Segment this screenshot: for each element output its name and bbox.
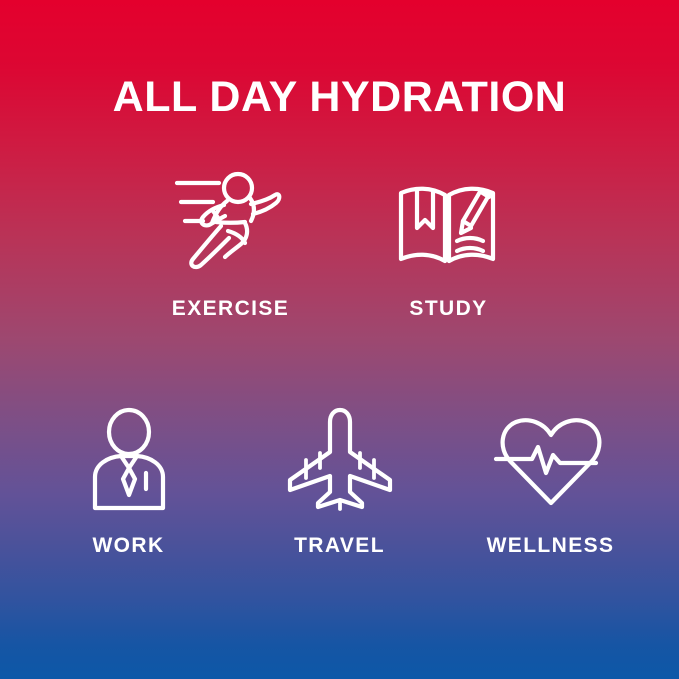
page-title-container: ALL DAY HYDRATION (0, 45, 679, 150)
benefit-label-study: STUDY (409, 297, 487, 321)
person-necktie-icon (70, 405, 188, 515)
benefit-item-work[interactable]: WORK (23, 405, 234, 558)
benefit-row-2: WORK TRAVEL (0, 405, 679, 558)
benefit-label-wellness: WELLNESS (487, 534, 615, 558)
page-title: ALL DAY HYDRATION (113, 74, 567, 121)
heart-heartbeat-icon (492, 405, 610, 515)
benefit-label-exercise: EXERCISE (172, 297, 289, 321)
benefit-row-1: EXERCISE (0, 168, 679, 321)
benefit-label-travel: TRAVEL (294, 534, 385, 558)
benefit-item-wellness[interactable]: WELLNESS (445, 405, 656, 558)
benefit-label-work: WORK (92, 534, 164, 558)
benefit-item-travel[interactable]: TRAVEL (234, 405, 445, 558)
open-book-pencil-icon (390, 168, 508, 278)
running-person-icon (172, 168, 290, 278)
benefit-item-exercise[interactable]: EXERCISE (122, 168, 340, 321)
hydration-poster: ALL DAY HYDRATION (0, 0, 679, 679)
airplane-icon (281, 405, 399, 515)
benefit-item-study[interactable]: STUDY (340, 168, 558, 321)
